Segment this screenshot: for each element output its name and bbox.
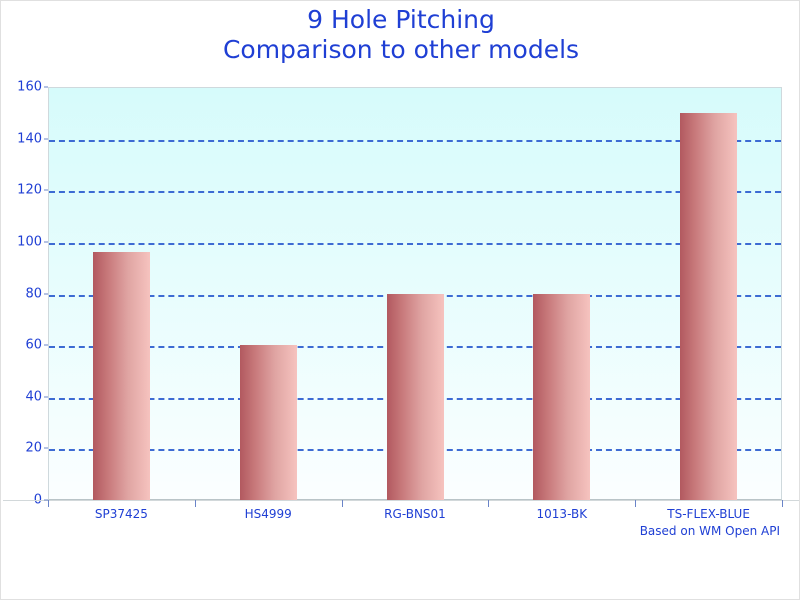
y-tick-mark-0 <box>44 500 48 501</box>
y-tick-mark-160 <box>44 87 48 88</box>
y-tick-label-140: 140 <box>17 131 42 146</box>
x-tick-label-SP37425: SP37425 <box>95 507 148 521</box>
x-tick-mark-2 <box>342 500 343 507</box>
x-tick-mark-1 <box>195 500 196 507</box>
x-tick-label-HS4999: HS4999 <box>245 507 292 521</box>
y-axis: 020406080100120140160 <box>1 87 42 500</box>
y-tick-label-160: 160 <box>17 80 42 95</box>
gridline-80 <box>49 295 781 297</box>
gridline-140 <box>49 140 781 142</box>
y-tick-mark-80 <box>44 293 48 294</box>
y-tick-mark-100 <box>44 241 48 242</box>
y-tick-mark-120 <box>44 190 48 191</box>
y-tick-label-80: 80 <box>25 286 42 301</box>
x-tick-mark-4 <box>635 500 636 507</box>
plot-area <box>48 87 782 500</box>
y-tick-label-60: 60 <box>25 338 42 353</box>
y-tick-mark-20 <box>44 448 48 449</box>
x-tick-mark-0 <box>48 500 49 507</box>
y-tick-label-20: 20 <box>25 441 42 456</box>
chart-canvas: 9 Hole Pitching Comparison to other mode… <box>0 0 800 600</box>
y-tick-label-100: 100 <box>17 234 42 249</box>
y-tick-label-120: 120 <box>17 183 42 198</box>
x-tick-mark-5 <box>782 500 783 507</box>
gridline-20 <box>49 449 781 451</box>
x-tick-label-TS-FLEX-BLUE: TS-FLEX-BLUE <box>667 507 750 521</box>
x-tick-mark-3 <box>488 500 489 507</box>
chart-title: 9 Hole Pitching Comparison to other mode… <box>1 5 800 65</box>
x-tick-label-RG-BNS01: RG-BNS01 <box>384 507 446 521</box>
y-tick-mark-140 <box>44 138 48 139</box>
gridline-120 <box>49 191 781 193</box>
x-tick-label-1013-BK: 1013-BK <box>537 507 588 521</box>
gridline-60 <box>49 346 781 348</box>
gridlines <box>49 88 781 499</box>
gridline-40 <box>49 398 781 400</box>
y-tick-label-40: 40 <box>25 389 42 404</box>
chart-footer-annotation: Based on WM Open API <box>640 524 780 538</box>
y-tick-mark-40 <box>44 396 48 397</box>
y-tick-mark-60 <box>44 345 48 346</box>
gridline-100 <box>49 243 781 245</box>
